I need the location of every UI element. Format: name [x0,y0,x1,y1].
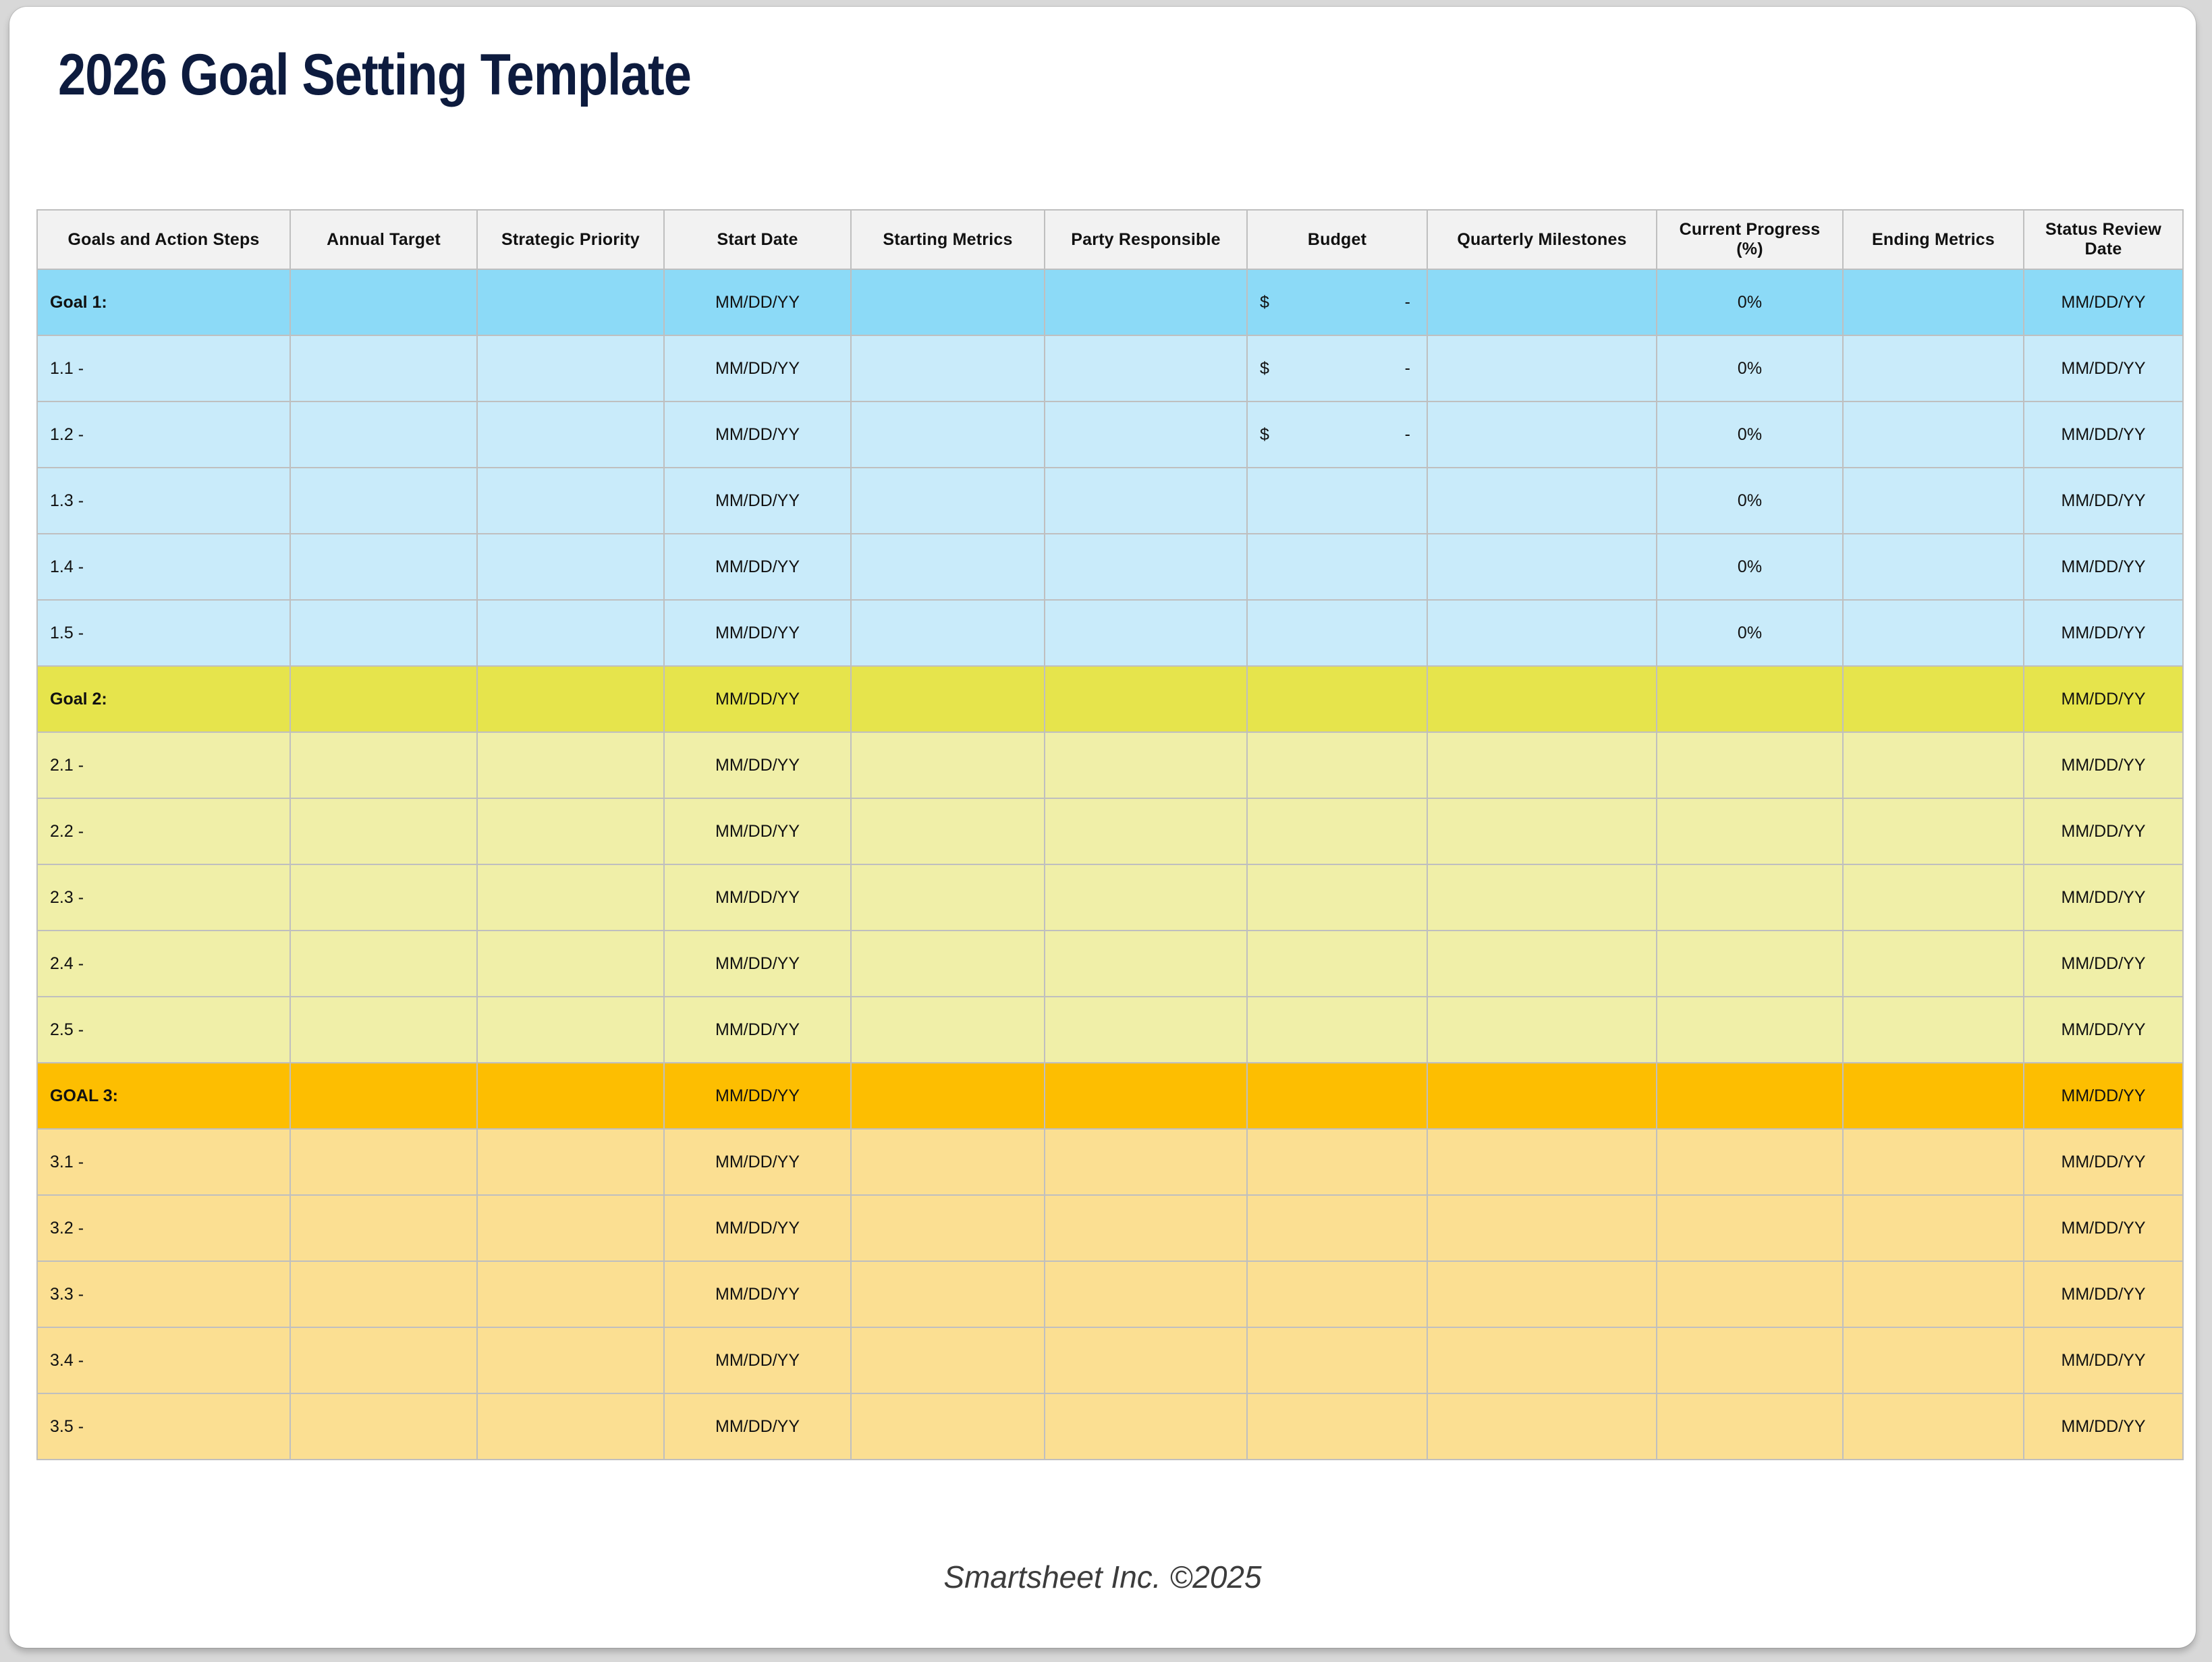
action-step-label-cell[interactable]: 1.5 - [37,600,290,666]
goal-header-row[interactable]: Goal 2:MM/DD/YYMM/DD/YY [37,666,2183,732]
budget-cell[interactable] [1247,1129,1427,1195]
strategic-priority-cell[interactable] [477,798,664,864]
current-progress-cell-text: 0% [1738,359,1762,378]
start-date-cell[interactable]: MM/DD/YY [664,1129,851,1195]
strategic-priority-cell[interactable] [477,1195,664,1261]
status-review-date-cell[interactable]: MM/DD/YY [2024,1261,2183,1327]
table-header-row: Goals and Action StepsAnnual TargetStrat… [37,210,2183,269]
starting-metrics-cell[interactable] [851,798,1045,864]
action-step-label-cell-text: 3.1 - [50,1153,84,1171]
current-progress-cell[interactable]: 0% [1657,335,1843,401]
status-review-date-cell-text: MM/DD/YY [2062,1086,2146,1105]
starting-metrics-cell[interactable] [851,401,1045,468]
party-responsible-cell[interactable] [1045,931,1247,997]
party-responsible-cell[interactable] [1045,1261,1247,1327]
status-review-date-cell[interactable]: MM/DD/YY [2024,1063,2183,1129]
status-review-date-cell-text: MM/DD/YY [2062,425,2146,444]
action-step-row[interactable]: 1.5 -MM/DD/YY0%MM/DD/YY [37,600,2183,666]
column-header-line: Start Date [717,230,798,249]
starting-metrics-cell[interactable] [851,468,1045,534]
budget-currency-symbol: $ [1260,293,1269,312]
goal-label-cell[interactable]: GOAL 3: [37,1063,290,1129]
start-date-cell[interactable]: MM/DD/YY [664,335,851,401]
annual-target-cell[interactable] [290,1393,477,1460]
starting-metrics-cell[interactable] [851,534,1045,600]
action-step-row[interactable]: 3.2 -MM/DD/YYMM/DD/YY [37,1195,2183,1261]
strategic-priority-cell[interactable] [477,931,664,997]
budget-cell[interactable] [1247,798,1427,864]
copyright-footer: Smartsheet Inc. ©2025 [9,1559,2196,1595]
status-review-date-cell[interactable]: MM/DD/YY [2024,1195,2183,1261]
starting-metrics-cell[interactable] [851,997,1045,1063]
status-review-date-cell-text: MM/DD/YY [2062,690,2146,709]
column-header-status-review-date[interactable]: Status ReviewDate [2024,210,2183,269]
party-responsible-cell[interactable] [1045,997,1247,1063]
action-step-label-cell[interactable]: 3.2 - [37,1195,290,1261]
annual-target-cell[interactable] [290,666,477,732]
status-review-date-cell[interactable]: MM/DD/YY [2024,335,2183,401]
start-date-cell-text: MM/DD/YY [715,624,800,642]
start-date-cell[interactable]: MM/DD/YY [664,1063,851,1129]
action-step-row[interactable]: 3.5 -MM/DD/YYMM/DD/YY [37,1393,2183,1460]
column-header-quarterly-milestones[interactable]: Quarterly Milestones [1427,210,1657,269]
action-step-label-cell[interactable]: 2.2 - [37,798,290,864]
status-review-date-cell-text: MM/DD/YY [2062,1020,2146,1039]
current-progress-cell[interactable] [1657,1327,1843,1393]
annual-target-cell[interactable] [290,864,477,931]
quarterly-milestones-cell[interactable] [1427,798,1657,864]
annual-target-cell[interactable] [290,997,477,1063]
column-header-current-progress[interactable]: Current Progress(%) [1657,210,1843,269]
quarterly-milestones-cell[interactable] [1427,732,1657,798]
ending-metrics-cell[interactable] [1843,269,2024,335]
annual-target-cell[interactable] [290,269,477,335]
quarterly-milestones-cell[interactable] [1427,335,1657,401]
goal-label-cell[interactable]: Goal 2: [37,666,290,732]
action-step-row[interactable]: 1.1 -MM/DD/YY$-0%MM/DD/YY [37,335,2183,401]
status-review-date-cell[interactable]: MM/DD/YY [2024,1393,2183,1460]
current-progress-cell[interactable] [1657,666,1843,732]
action-step-label-cell-text: 1.4 - [50,557,84,576]
quarterly-milestones-cell[interactable] [1427,1129,1657,1195]
start-date-cell[interactable]: MM/DD/YY [664,1261,851,1327]
party-responsible-cell[interactable] [1045,600,1247,666]
status-review-date-cell-text: MM/DD/YY [2062,359,2146,378]
ending-metrics-cell[interactable] [1843,1063,2024,1129]
action-step-row[interactable]: 1.2 -MM/DD/YY$-0%MM/DD/YY [37,401,2183,468]
ending-metrics-cell[interactable] [1843,401,2024,468]
table-header: Goals and Action StepsAnnual TargetStrat… [37,210,2183,269]
starting-metrics-cell[interactable] [851,335,1045,401]
action-step-label-cell[interactable]: 3.3 - [37,1261,290,1327]
annual-target-cell[interactable] [290,335,477,401]
status-review-date-cell-text: MM/DD/YY [2062,1219,2146,1238]
annual-target-cell[interactable] [290,798,477,864]
current-progress-cell[interactable] [1657,997,1843,1063]
goal-label-cell[interactable]: Goal 1: [37,269,290,335]
strategic-priority-cell[interactable] [477,997,664,1063]
ending-metrics-cell[interactable] [1843,732,2024,798]
start-date-cell[interactable]: MM/DD/YY [664,798,851,864]
start-date-cell-text: MM/DD/YY [715,1153,800,1171]
status-review-date-cell[interactable]: MM/DD/YY [2024,1327,2183,1393]
party-responsible-cell[interactable] [1045,732,1247,798]
strategic-priority-cell[interactable] [477,335,664,401]
annual-target-cell[interactable] [290,1327,477,1393]
start-date-cell[interactable]: MM/DD/YY [664,997,851,1063]
annual-target-cell[interactable] [290,401,477,468]
start-date-cell-text: MM/DD/YY [715,293,800,312]
start-date-cell[interactable]: MM/DD/YY [664,401,851,468]
column-header-start-date[interactable]: Start Date [664,210,851,269]
budget-cell[interactable]: $- [1247,401,1427,468]
column-header-line: Date [2085,240,2122,258]
strategic-priority-cell[interactable] [477,1129,664,1195]
start-date-cell[interactable]: MM/DD/YY [664,864,851,931]
annual-target-cell[interactable] [290,1261,477,1327]
current-progress-cell[interactable]: 0% [1657,600,1843,666]
annual-target-cell[interactable] [290,1195,477,1261]
party-responsible-cell[interactable] [1045,534,1247,600]
column-header-line: Strategic Priority [501,230,640,249]
party-responsible-cell[interactable] [1045,1195,1247,1261]
current-progress-cell[interactable] [1657,931,1843,997]
party-responsible-cell[interactable] [1045,269,1247,335]
budget-amount: - [1405,293,1410,312]
action-step-label-cell-text: 2.3 - [50,888,84,907]
table-body: Goal 1:MM/DD/YY$-0%MM/DD/YY1.1 -MM/DD/YY… [37,269,2183,1460]
ending-metrics-cell[interactable] [1843,1129,2024,1195]
action-step-label-cell[interactable]: 3.1 - [37,1129,290,1195]
status-review-date-cell-text: MM/DD/YY [2062,756,2146,775]
ending-metrics-cell[interactable] [1843,931,2024,997]
ending-metrics-cell[interactable] [1843,997,2024,1063]
current-progress-cell[interactable] [1657,732,1843,798]
status-review-date-cell[interactable]: MM/DD/YY [2024,732,2183,798]
status-review-date-cell[interactable]: MM/DD/YY [2024,864,2183,931]
current-progress-cell[interactable] [1657,1129,1843,1195]
status-review-date-cell[interactable]: MM/DD/YY [2024,997,2183,1063]
start-date-cell-text: MM/DD/YY [715,822,800,841]
quarterly-milestones-cell[interactable] [1427,1327,1657,1393]
starting-metrics-cell[interactable] [851,1195,1045,1261]
action-step-label-cell[interactable]: 1.4 - [37,534,290,600]
action-step-label-cell[interactable]: 2.5 - [37,997,290,1063]
column-header-goals-and-action-steps[interactable]: Goals and Action Steps [37,210,290,269]
action-step-label-cell[interactable]: 3.4 - [37,1327,290,1393]
goal-label-cell-text: Goal 2: [50,690,107,709]
start-date-cell-text: MM/DD/YY [715,888,800,907]
ending-metrics-cell[interactable] [1843,1195,2024,1261]
strategic-priority-cell[interactable] [477,534,664,600]
starting-metrics-cell[interactable] [851,666,1045,732]
action-step-row[interactable]: 3.3 -MM/DD/YYMM/DD/YY [37,1261,2183,1327]
starting-metrics-cell[interactable] [851,732,1045,798]
action-step-label-cell[interactable]: 2.3 - [37,864,290,931]
ending-metrics-cell[interactable] [1843,335,2024,401]
budget-cell[interactable] [1247,1327,1427,1393]
strategic-priority-cell[interactable] [477,1327,664,1393]
party-responsible-cell[interactable] [1045,468,1247,534]
action-step-label-cell-text: 2.4 - [50,954,84,973]
start-date-cell[interactable]: MM/DD/YY [664,666,851,732]
party-responsible-cell[interactable] [1045,666,1247,732]
strategic-priority-cell[interactable] [477,600,664,666]
status-review-date-cell[interactable]: MM/DD/YY [2024,600,2183,666]
quarterly-milestones-cell[interactable] [1427,666,1657,732]
strategic-priority-cell[interactable] [477,468,664,534]
start-date-cell[interactable]: MM/DD/YY [664,468,851,534]
budget-amount: - [1405,425,1410,445]
ending-metrics-cell[interactable] [1843,534,2024,600]
start-date-cell-text: MM/DD/YY [715,491,800,510]
current-progress-cell-text: 0% [1738,425,1762,444]
current-progress-cell[interactable] [1657,1063,1843,1129]
action-step-row[interactable]: 1.3 -MM/DD/YY0%MM/DD/YY [37,468,2183,534]
annual-target-cell[interactable] [290,931,477,997]
action-step-row[interactable]: 1.4 -MM/DD/YY0%MM/DD/YY [37,534,2183,600]
action-step-label-cell[interactable]: 1.1 - [37,335,290,401]
budget-cell[interactable] [1247,864,1427,931]
starting-metrics-cell[interactable] [851,1063,1045,1129]
party-responsible-cell[interactable] [1045,1327,1247,1393]
action-step-label-cell[interactable]: 1.2 - [37,401,290,468]
budget-cell[interactable] [1247,1063,1427,1129]
status-review-date-cell-text: MM/DD/YY [2062,491,2146,510]
starting-metrics-cell[interactable] [851,600,1045,666]
ending-metrics-cell[interactable] [1843,1327,2024,1393]
start-date-cell-text: MM/DD/YY [715,1020,800,1039]
annual-target-cell[interactable] [290,600,477,666]
budget-cell[interactable] [1247,1261,1427,1327]
starting-metrics-cell[interactable] [851,1129,1045,1195]
start-date-cell[interactable]: MM/DD/YY [664,1327,851,1393]
budget-currency-symbol: $ [1260,425,1269,444]
party-responsible-cell[interactable] [1045,335,1247,401]
budget-cell[interactable] [1247,1195,1427,1261]
ending-metrics-cell[interactable] [1843,1261,2024,1327]
party-responsible-cell[interactable] [1045,1063,1247,1129]
action-step-label-cell[interactable]: 1.3 - [37,468,290,534]
action-step-label-cell-text: 1.1 - [50,359,84,378]
starting-metrics-cell[interactable] [851,1261,1045,1327]
action-step-label-cell-text: 2.5 - [50,1020,84,1039]
annual-target-cell[interactable] [290,1129,477,1195]
quarterly-milestones-cell[interactable] [1427,1063,1657,1129]
column-header-annual-target[interactable]: Annual Target [290,210,477,269]
status-review-date-cell-text: MM/DD/YY [2062,557,2146,576]
budget-cell[interactable] [1247,468,1427,534]
party-responsible-cell[interactable] [1045,401,1247,468]
column-header-party-responsible[interactable]: Party Responsible [1045,210,1247,269]
current-progress-cell[interactable] [1657,1195,1843,1261]
start-date-cell[interactable]: MM/DD/YY [664,269,851,335]
annual-target-cell[interactable] [290,468,477,534]
ending-metrics-cell[interactable] [1843,468,2024,534]
quarterly-milestones-cell[interactable] [1427,468,1657,534]
start-date-cell[interactable]: MM/DD/YY [664,600,851,666]
start-date-cell[interactable]: MM/DD/YY [664,1195,851,1261]
action-step-row[interactable]: 3.4 -MM/DD/YYMM/DD/YY [37,1327,2183,1393]
column-header-ending-metrics[interactable]: Ending Metrics [1843,210,2024,269]
action-step-label-cell-text: 2.1 - [50,756,84,775]
quarterly-milestones-cell[interactable] [1427,1393,1657,1460]
action-step-row[interactable]: 3.1 -MM/DD/YYMM/DD/YY [37,1129,2183,1195]
goal-label-cell-text: GOAL 3: [50,1086,118,1105]
status-review-date-cell[interactable]: MM/DD/YY [2024,269,2183,335]
budget-cell[interactable]: $- [1247,335,1427,401]
ending-metrics-cell[interactable] [1843,666,2024,732]
action-step-label-cell[interactable]: 2.1 - [37,732,290,798]
budget-amount: - [1405,359,1410,379]
current-progress-cell-text: 0% [1738,624,1762,642]
strategic-priority-cell[interactable] [477,1063,664,1129]
status-review-date-cell[interactable]: MM/DD/YY [2024,931,2183,997]
column-header-line: Party Responsible [1071,230,1221,249]
budget-cell[interactable] [1247,666,1427,732]
party-responsible-cell[interactable] [1045,798,1247,864]
starting-metrics-cell[interactable] [851,864,1045,931]
quarterly-milestones-cell[interactable] [1427,931,1657,997]
current-progress-cell-text: 0% [1738,491,1762,510]
annual-target-cell[interactable] [290,1063,477,1129]
start-date-cell-text: MM/DD/YY [715,1219,800,1238]
starting-metrics-cell[interactable] [851,1393,1045,1460]
page-title: 2026 Goal Setting Template [58,42,691,109]
current-progress-cell[interactable] [1657,864,1843,931]
party-responsible-cell[interactable] [1045,1129,1247,1195]
start-date-cell[interactable]: MM/DD/YY [664,732,851,798]
budget-cell[interactable] [1247,732,1427,798]
current-progress-cell[interactable]: 0% [1657,269,1843,335]
starting-metrics-cell[interactable] [851,1327,1045,1393]
quarterly-milestones-cell[interactable] [1427,401,1657,468]
annual-target-cell[interactable] [290,732,477,798]
action-step-row[interactable]: 2.5 -MM/DD/YYMM/DD/YY [37,997,2183,1063]
budget-currency-symbol: $ [1260,359,1269,378]
starting-metrics-cell[interactable] [851,931,1045,997]
start-date-cell-text: MM/DD/YY [715,1417,800,1436]
start-date-cell-text: MM/DD/YY [715,690,800,709]
quarterly-milestones-cell[interactable] [1427,1195,1657,1261]
action-step-label-cell-text: 2.2 - [50,822,84,841]
budget-cell[interactable] [1247,534,1427,600]
start-date-cell-text: MM/DD/YY [715,359,800,378]
column-header-line: Annual Target [327,230,441,249]
budget-cell[interactable] [1247,931,1427,997]
quarterly-milestones-cell[interactable] [1427,1261,1657,1327]
strategic-priority-cell[interactable] [477,401,664,468]
column-header-line: Budget [1308,230,1366,249]
strategic-priority-cell[interactable] [477,666,664,732]
start-date-cell-text: MM/DD/YY [715,1285,800,1304]
action-step-row[interactable]: 2.3 -MM/DD/YYMM/DD/YY [37,864,2183,931]
action-step-label-cell[interactable]: 3.5 - [37,1393,290,1460]
status-review-date-cell-text: MM/DD/YY [2062,624,2146,642]
status-review-date-cell[interactable]: MM/DD/YY [2024,534,2183,600]
current-progress-cell[interactable] [1657,1261,1843,1327]
strategic-priority-cell[interactable] [477,1261,664,1327]
ending-metrics-cell[interactable] [1843,864,2024,931]
status-review-date-cell[interactable]: MM/DD/YY [2024,1129,2183,1195]
ending-metrics-cell[interactable] [1843,600,2024,666]
column-header-line: (%) [1736,240,1763,258]
goal-table-container: Goals and Action StepsAnnual TargetStrat… [36,209,2182,1460]
action-step-label-cell-text: 1.2 - [50,425,84,444]
status-review-date-cell[interactable]: MM/DD/YY [2024,666,2183,732]
ending-metrics-cell[interactable] [1843,1393,2024,1460]
column-header-line: Ending Metrics [1872,230,1995,249]
current-progress-cell[interactable]: 0% [1657,468,1843,534]
annual-target-cell[interactable] [290,534,477,600]
start-date-cell-text: MM/DD/YY [715,1086,800,1105]
status-review-date-cell-text: MM/DD/YY [2062,293,2146,312]
action-step-row[interactable]: 2.2 -MM/DD/YYMM/DD/YY [37,798,2183,864]
start-date-cell-text: MM/DD/YY [715,557,800,576]
quarterly-milestones-cell[interactable] [1427,864,1657,931]
current-progress-cell[interactable] [1657,1393,1843,1460]
status-review-date-cell-text: MM/DD/YY [2062,1417,2146,1436]
quarterly-milestones-cell[interactable] [1427,534,1657,600]
start-date-cell[interactable]: MM/DD/YY [664,534,851,600]
quarterly-milestones-cell[interactable] [1427,269,1657,335]
start-date-cell-text: MM/DD/YY [715,1351,800,1370]
column-header-starting-metrics[interactable]: Starting Metrics [851,210,1045,269]
strategic-priority-cell[interactable] [477,732,664,798]
starting-metrics-cell[interactable] [851,269,1045,335]
column-header-budget[interactable]: Budget [1247,210,1427,269]
budget-cell[interactable] [1247,1393,1427,1460]
status-review-date-cell-text: MM/DD/YY [2062,888,2146,907]
current-progress-cell[interactable]: 0% [1657,401,1843,468]
column-header-line: Quarterly Milestones [1457,230,1626,249]
action-step-label-cell[interactable]: 2.4 - [37,931,290,997]
status-review-date-cell-text: MM/DD/YY [2062,822,2146,841]
start-date-cell[interactable]: MM/DD/YY [664,931,851,997]
action-step-label-cell-text: 3.3 - [50,1285,84,1304]
current-progress-cell-text: 0% [1738,293,1762,312]
current-progress-cell[interactable]: 0% [1657,534,1843,600]
action-step-row[interactable]: 2.1 -MM/DD/YYMM/DD/YY [37,732,2183,798]
goal-header-row[interactable]: Goal 1:MM/DD/YY$-0%MM/DD/YY [37,269,2183,335]
start-date-cell[interactable]: MM/DD/YY [664,1393,851,1460]
column-header-line: Goals and Action Steps [67,230,259,249]
start-date-cell-text: MM/DD/YY [715,954,800,973]
column-header-line: Starting Metrics [883,230,1012,249]
quarterly-milestones-cell[interactable] [1427,600,1657,666]
strategic-priority-cell[interactable] [477,269,664,335]
status-review-date-cell[interactable]: MM/DD/YY [2024,468,2183,534]
budget-cell[interactable] [1247,997,1427,1063]
status-review-date-cell[interactable]: MM/DD/YY [2024,401,2183,468]
current-progress-cell[interactable] [1657,798,1843,864]
action-step-row[interactable]: 2.4 -MM/DD/YYMM/DD/YY [37,931,2183,997]
strategic-priority-cell[interactable] [477,1393,664,1460]
party-responsible-cell[interactable] [1045,864,1247,931]
column-header-line: Current Progress [1680,220,1821,239]
budget-cell[interactable] [1247,600,1427,666]
party-responsible-cell[interactable] [1045,1393,1247,1460]
strategic-priority-cell[interactable] [477,864,664,931]
quarterly-milestones-cell[interactable] [1427,997,1657,1063]
column-header-strategic-priority[interactable]: Strategic Priority [477,210,664,269]
budget-cell[interactable]: $- [1247,269,1427,335]
action-step-label-cell-text: 3.2 - [50,1219,84,1238]
status-review-date-cell[interactable]: MM/DD/YY [2024,798,2183,864]
ending-metrics-cell[interactable] [1843,798,2024,864]
status-review-date-cell-text: MM/DD/YY [2062,1285,2146,1304]
goal-header-row[interactable]: GOAL 3:MM/DD/YYMM/DD/YY [37,1063,2183,1129]
